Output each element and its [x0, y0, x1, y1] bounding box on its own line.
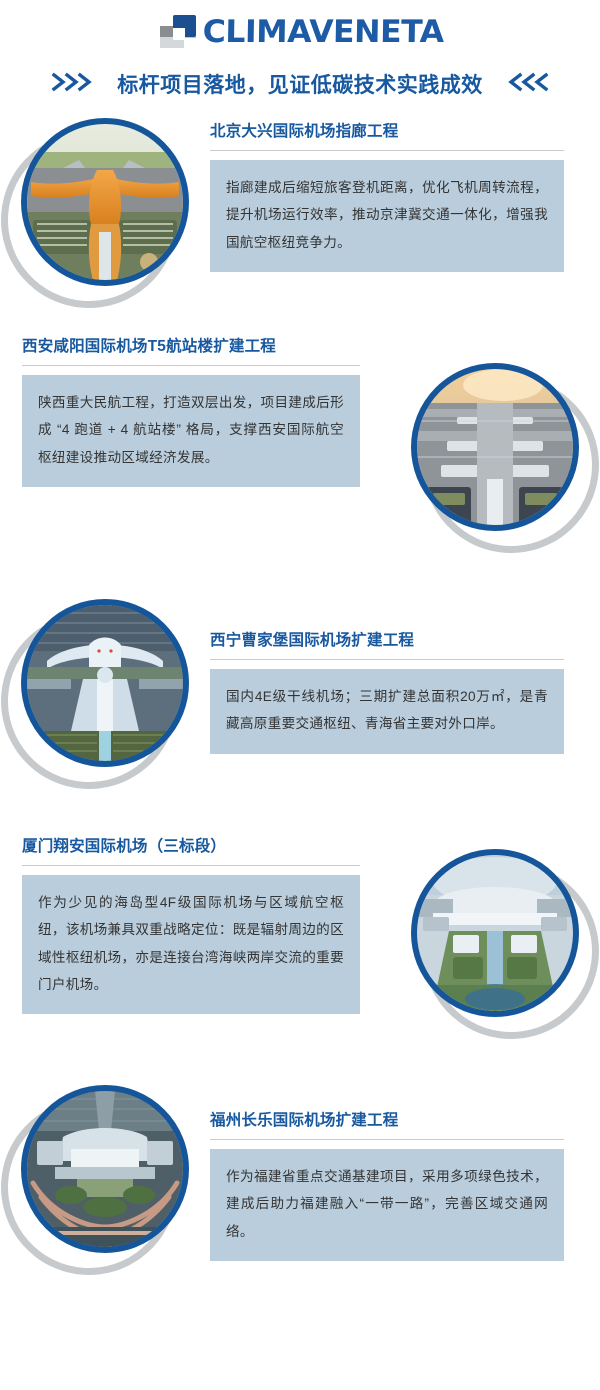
- project-title: 北京大兴国际机场指廊工程: [210, 120, 564, 143]
- project-block-xining-caojiabao: 西宁曹家堡国际机场扩建工程 国内4E级干线机场；三期扩建总面积20万㎡，是青藏高…: [0, 585, 600, 825]
- project-block-beijing-daxing: 北京大兴国际机场指廊工程 指廊建成后缩短旅客登机距离，优化飞机周转流程，提升机场…: [0, 110, 600, 325]
- project-text: 福州长乐国际机场扩建工程 作为福建省重点交通基建项目，采用多项绿色技术，建成后助…: [210, 1075, 600, 1261]
- project-description-box: 指廊建成后缩短旅客登机距离，优化飞机周转流程，提升机场运行效率，推动京津冀交通一…: [210, 160, 564, 272]
- chevron-right-triple-icon: [51, 71, 97, 98]
- chevron-left-triple-icon: [503, 71, 549, 98]
- section-banner: 标杆项目落地，见证低碳技术实践成效: [0, 58, 600, 110]
- project-media: [0, 585, 210, 779]
- project-title: 西安咸阳国际机场T5航站楼扩建工程: [22, 335, 352, 358]
- project-description: 国内4E级干线机场；三期扩建总面积20万㎡，是青藏高原重要交通枢纽、青海省主要对…: [226, 683, 548, 737]
- project-media: [0, 110, 210, 298]
- divider: [210, 1139, 564, 1140]
- project-photo-fuzhou-changle: [21, 1085, 189, 1253]
- project-title: 厦门翔安国际机场（三标段）: [22, 835, 390, 858]
- project-photo-beijing-daxing: [21, 118, 189, 286]
- project-photo-xian-xianyang-t5: [411, 363, 579, 531]
- project-description: 作为福建省重点交通基建项目，采用多项绿色技术，建成后助力福建融入“一带一路”，完…: [226, 1163, 548, 1245]
- project-text: 北京大兴国际机场指廊工程 指廊建成后缩短旅客登机距离，优化飞机周转流程，提升机场…: [210, 110, 600, 272]
- project-media: [390, 325, 600, 543]
- project-description: 作为少见的海岛型4F级国际机场与区域航空枢纽，该机场兼具双重战略定位：既是辐射周…: [38, 889, 344, 998]
- brand-wordmark: CLIMAVENETA: [203, 17, 445, 48]
- project-media: [390, 825, 600, 1029]
- project-block-xian-xianyang-t5: 西安咸阳国际机场T5航站楼扩建工程 陕西重大民航工程，打造双层出发，项目建成后形…: [0, 325, 600, 585]
- project-block-fuzhou-changle: 福州长乐国际机场扩建工程 作为福建省重点交通基建项目，采用多项绿色技术，建成后助…: [0, 1075, 600, 1300]
- banner-title: 标杆项目落地，见证低碳技术实践成效: [117, 69, 483, 99]
- project-block-xiamen-xiangan: 厦门翔安国际机场（三标段） 作为少见的海岛型4F级国际机场与区域航空枢纽，该机场…: [0, 825, 600, 1075]
- project-description-box: 陕西重大民航工程，打造双层出发，项目建成后形成 “4 跑道 + 4 航站楼” 格…: [22, 375, 360, 487]
- project-description: 指廊建成后缩短旅客登机距离，优化飞机周转流程，提升机场运行效率，推动京津冀交通一…: [226, 174, 548, 256]
- project-title: 福州长乐国际机场扩建工程: [210, 1109, 564, 1132]
- project-text: 西宁曹家堡国际机场扩建工程 国内4E级干线机场；三期扩建总面积20万㎡，是青藏高…: [210, 585, 600, 754]
- project-list: 北京大兴国际机场指廊工程 指廊建成后缩短旅客登机距离，优化飞机周转流程，提升机场…: [0, 110, 600, 1300]
- divider: [22, 865, 360, 866]
- project-description-box: 国内4E级干线机场；三期扩建总面积20万㎡，是青藏高原重要交通枢纽、青海省主要对…: [210, 669, 564, 753]
- divider: [210, 150, 564, 151]
- project-media: [0, 1075, 210, 1265]
- project-text: 厦门翔安国际机场（三标段） 作为少见的海岛型4F级国际机场与区域航空枢纽，该机场…: [0, 825, 390, 1014]
- divider: [210, 659, 564, 660]
- project-description-box: 作为福建省重点交通基建项目，采用多项绿色技术，建成后助力福建融入“一带一路”，完…: [210, 1149, 564, 1261]
- divider: [22, 365, 360, 366]
- logo-lockup: CLIMAVENETA: [158, 14, 441, 50]
- project-photo-xiamen-xiangan: [411, 849, 579, 1017]
- project-title: 西宁曹家堡国际机场扩建工程: [210, 629, 564, 652]
- project-description: 陕西重大民航工程，打造双层出发，项目建成后形成 “4 跑道 + 4 航站楼” 格…: [38, 389, 344, 471]
- project-description-box: 作为少见的海岛型4F级国际机场与区域航空枢纽，该机场兼具双重战略定位：既是辐射周…: [22, 875, 360, 1014]
- infographic-page: CLIMAVENETA 标杆项目落地，见证低碳技术实践成效: [0, 0, 600, 1390]
- project-text: 西安咸阳国际机场T5航站楼扩建工程 陕西重大民航工程，打造双层出发，项目建成后形…: [0, 325, 390, 487]
- climaveneta-squares-logo-icon: [158, 14, 198, 50]
- project-photo-xining-caojiabao: [21, 599, 189, 767]
- brand-header: CLIMAVENETA: [0, 0, 600, 58]
